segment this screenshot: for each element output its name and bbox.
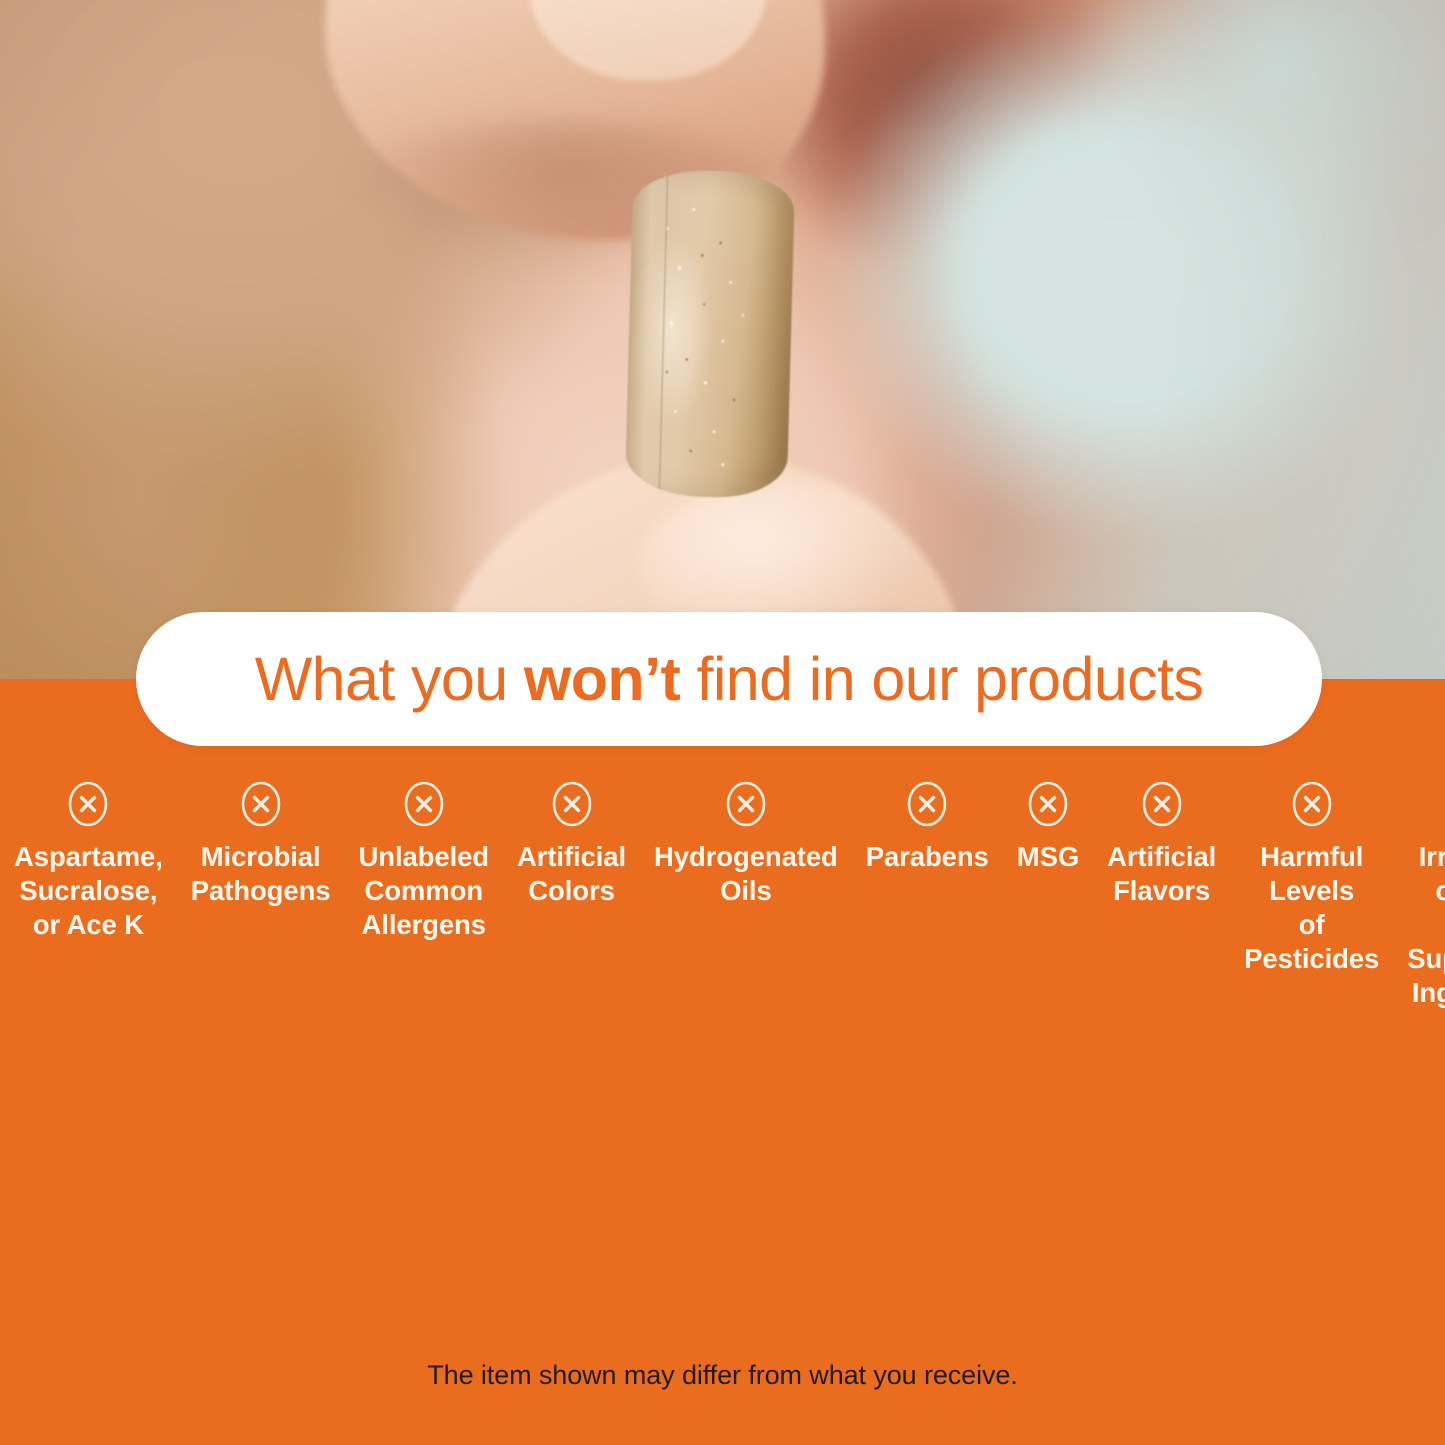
circle-x-icon — [1291, 780, 1333, 828]
exclusion-item: Aspartame, Sucralose, or Ace K — [0, 780, 177, 953]
exclusions-grid: Aspartame, Sucralose, or Ace K Microbial… — [0, 780, 1445, 970]
disclaimer-text: The item shown may differ from what you … — [0, 1360, 1445, 1391]
exclusion-item: Parabens — [852, 780, 1003, 945]
circle-x-icon — [240, 780, 282, 828]
exclusion-label: Irradiation of Food and Supplement Ingre… — [1407, 840, 1445, 1010]
circle-x-icon — [551, 780, 593, 828]
exclusion-label: Aspartame, Sucralose, or Ace K — [14, 840, 163, 942]
circle-x-icon — [403, 780, 445, 828]
exclusion-item: Microbial Pathogens — [177, 780, 345, 953]
title-pill: What you won’t find in our products — [136, 612, 1322, 746]
exclusion-label: Unlabeled Common Allergens — [358, 840, 489, 942]
exclusion-item: Artificial Colors — [503, 780, 640, 953]
title-segment-1: What you — [255, 645, 524, 713]
exclusion-item: MSG — [1003, 780, 1093, 945]
product-infographic: What you won’t find in our products Aspa… — [0, 0, 1445, 1445]
circle-x-icon — [67, 780, 109, 828]
exclusions-row: Hydrogenated Oils Parabens MSG — [640, 780, 1230, 945]
title-segment-bold: won’t — [524, 645, 680, 713]
exclusion-item: Unlabeled Common Allergens — [344, 780, 503, 953]
exclusion-label: Hydrogenated Oils — [654, 840, 838, 908]
exclusion-item: Harmful Levels of Pesticides — [1230, 780, 1393, 1045]
circle-x-icon — [725, 780, 767, 828]
page-title: What you won’t find in our products — [255, 649, 1204, 710]
exclusion-label: Artificial Flavors — [1107, 840, 1216, 908]
exclusion-label: Microbial Pathogens — [191, 840, 331, 908]
circle-x-icon — [1141, 780, 1183, 828]
exclusion-label: Artificial Colors — [517, 840, 626, 908]
title-segment-2: find in our products — [680, 645, 1203, 713]
exclusion-label: Harmful Levels of Pesticides — [1244, 840, 1379, 976]
exclusion-label: Parabens — [866, 840, 989, 874]
circle-x-icon — [906, 780, 948, 828]
exclusion-item: Hydrogenated Oils — [640, 780, 852, 945]
exclusion-item: Irradiation of Food and Supplement Ingre… — [1393, 780, 1445, 1045]
exclusions-row: Harmful Levels of Pesticides Irradiation… — [1230, 780, 1445, 970]
exclusion-item: Artificial Flavors — [1093, 780, 1230, 945]
exclusions-row: Aspartame, Sucralose, or Ace K Microbial… — [0, 780, 640, 953]
circle-x-icon — [1027, 780, 1069, 828]
photo-vignette — [0, 0, 1445, 700]
product-photo — [0, 0, 1445, 700]
exclusion-label: MSG — [1017, 840, 1079, 874]
